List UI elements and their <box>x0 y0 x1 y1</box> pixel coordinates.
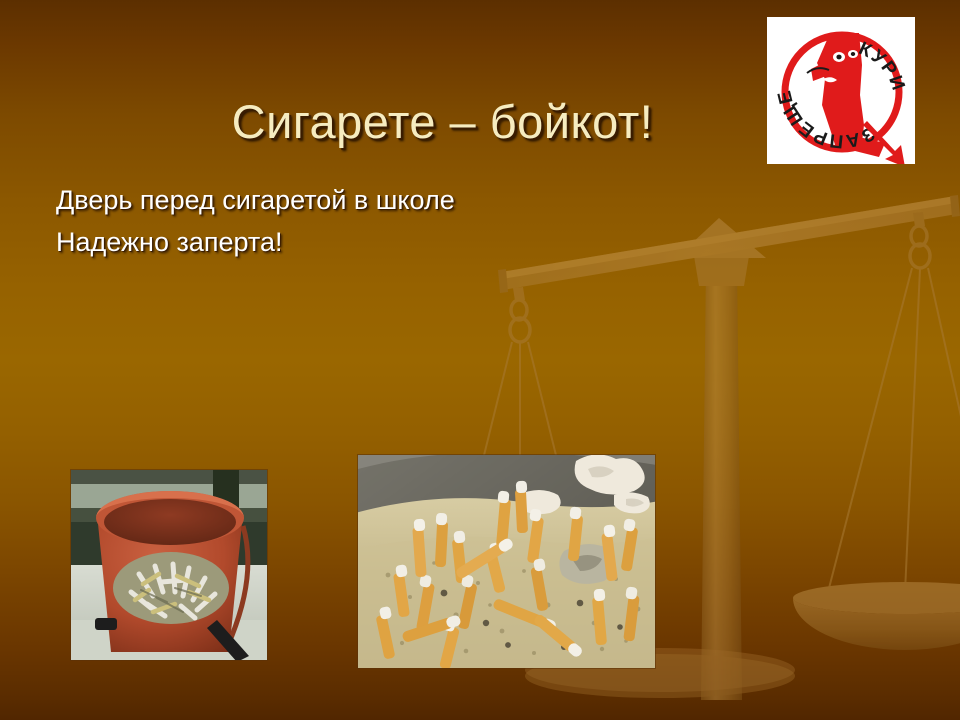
photo-cigarette-butts-in-sand <box>357 454 656 669</box>
slide-body: Дверь перед сигаретой в школе Надежно за… <box>56 180 616 264</box>
photo-bucket-of-cigarette-butts <box>70 469 268 661</box>
body-line-1: Дверь перед сигаретой в школе <box>56 180 616 222</box>
body-line-2: Надежно заперта! <box>56 222 616 264</box>
slide: Сигарете – бойкот! Дверь перед сигаретой… <box>0 0 960 720</box>
no-smoking-logo: КУРИТЬ ЗАПРЕЩЕНО! <box>767 17 915 164</box>
